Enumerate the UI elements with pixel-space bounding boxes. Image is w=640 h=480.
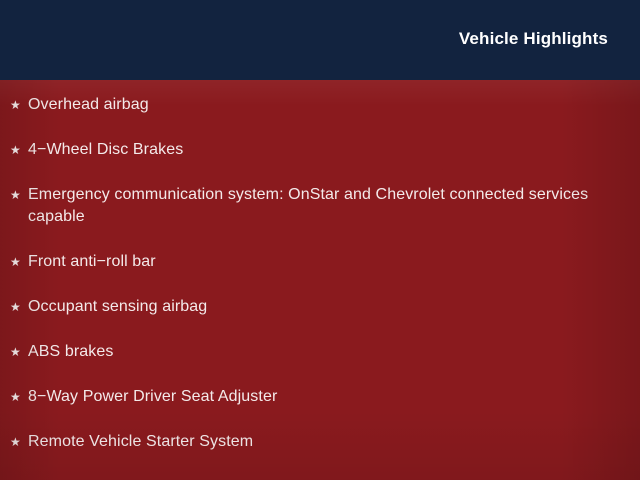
list-item-label: Overhead airbag bbox=[28, 94, 624, 116]
list-item: ★ ABS brakes bbox=[10, 341, 624, 363]
list-item: ★ Overhead airbag bbox=[10, 94, 624, 116]
list-item-label: Front anti−roll bar bbox=[28, 251, 624, 273]
list-item: ★ 8−Way Power Driver Seat Adjuster bbox=[10, 386, 624, 408]
list-item-label: ABS brakes bbox=[28, 341, 624, 363]
vehicle-highlights-slide: Vehicle Highlights ★ Overhead airbag ★ 4… bbox=[0, 0, 640, 480]
star-icon: ★ bbox=[10, 184, 24, 206]
list-item-label: 8−Way Power Driver Seat Adjuster bbox=[28, 386, 624, 408]
star-icon: ★ bbox=[10, 341, 24, 363]
vehicle-highlights-list: ★ Overhead airbag ★ 4−Wheel Disc Brakes … bbox=[0, 80, 640, 476]
list-item: ★ Emergency communication system: OnStar… bbox=[10, 184, 624, 228]
highlights-panel: ★ Overhead airbag ★ 4−Wheel Disc Brakes … bbox=[0, 80, 640, 480]
list-item-label: 4−Wheel Disc Brakes bbox=[28, 139, 624, 161]
star-icon: ★ bbox=[10, 296, 24, 318]
star-icon: ★ bbox=[10, 386, 24, 408]
star-icon: ★ bbox=[10, 94, 24, 116]
star-icon: ★ bbox=[10, 251, 24, 273]
star-icon: ★ bbox=[10, 431, 24, 453]
list-item-label: Occupant sensing airbag bbox=[28, 296, 624, 318]
list-item: ★ Occupant sensing airbag bbox=[10, 296, 624, 318]
list-item: ★ Front anti−roll bar bbox=[10, 251, 624, 273]
list-item-label: Emergency communication system: OnStar a… bbox=[28, 184, 624, 228]
list-item: ★ 4−Wheel Disc Brakes bbox=[10, 139, 624, 161]
star-icon: ★ bbox=[10, 139, 24, 161]
list-item: ★ Remote Vehicle Starter System bbox=[10, 431, 624, 453]
page-title: Vehicle Highlights bbox=[459, 30, 608, 47]
list-item-label: Remote Vehicle Starter System bbox=[28, 431, 624, 453]
header-bar: Vehicle Highlights bbox=[0, 0, 640, 80]
